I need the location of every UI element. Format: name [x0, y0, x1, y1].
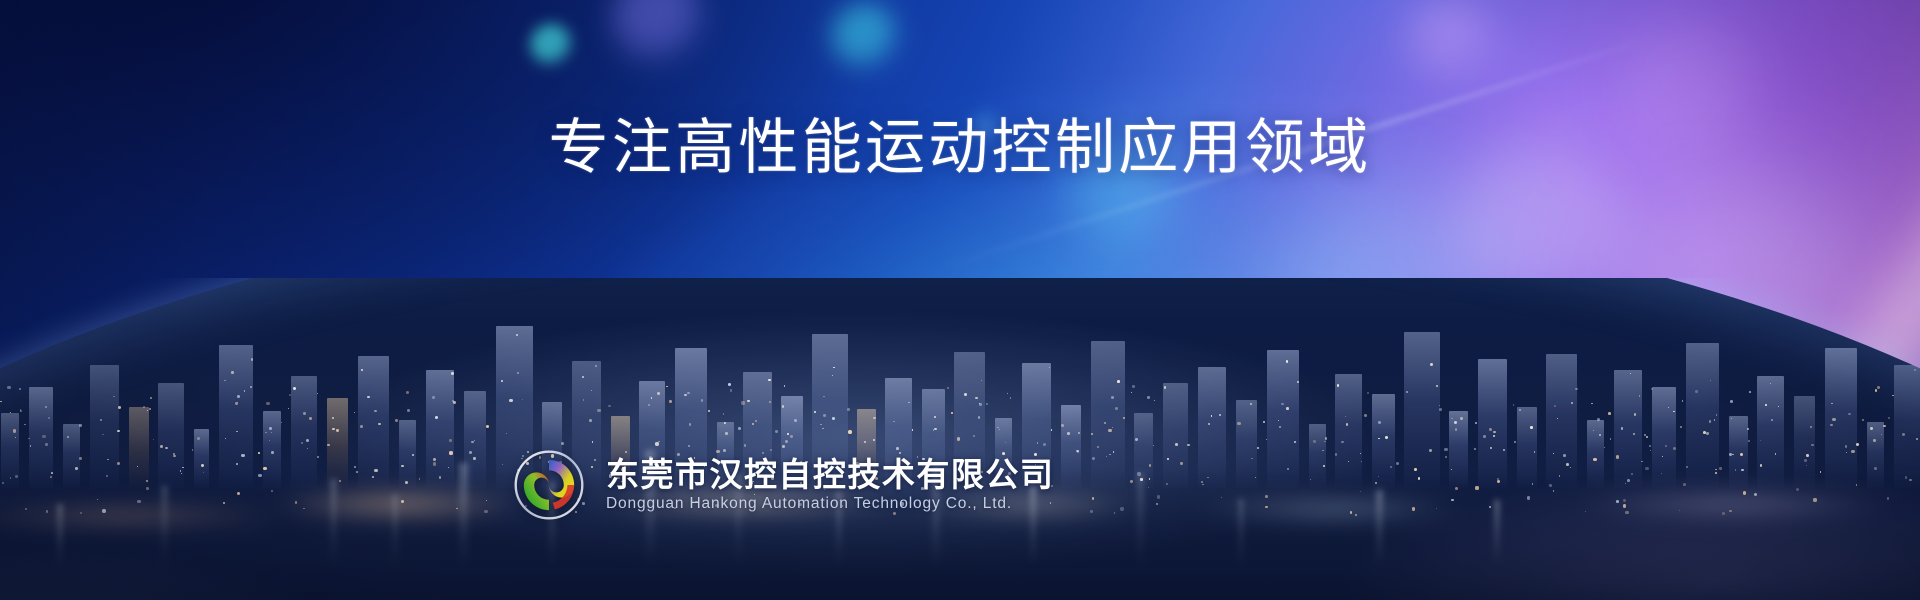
bokeh-violet-orb [612, 0, 708, 68]
banner-headline: 专注高性能运动控制应用领域 [0, 118, 1920, 178]
city-haze [0, 278, 1920, 600]
company-name-cn: 东莞市汉控自控技术有限公司 [606, 458, 1054, 493]
bokeh-pink-orb-flare [1407, 0, 1497, 85]
city-horizon-curve [0, 278, 1920, 600]
company-name-en: Dongguan Hankong Automation Technology C… [606, 495, 1054, 512]
company-logo-block: 东莞市汉控自控技术有限公司 Dongguan Hankong Automatio… [512, 448, 1054, 522]
company-name-group: 东莞市汉控自控技术有限公司 Dongguan Hankong Automatio… [606, 458, 1054, 512]
hankong-swirl-logo-icon [512, 448, 586, 522]
bokeh-teal-orb-left [530, 24, 574, 68]
cityscape [0, 278, 1920, 600]
bokeh-teal-orb-mid [831, 3, 901, 73]
hero-banner: 专注高性能运动控制应用领域 [0, 0, 1920, 600]
